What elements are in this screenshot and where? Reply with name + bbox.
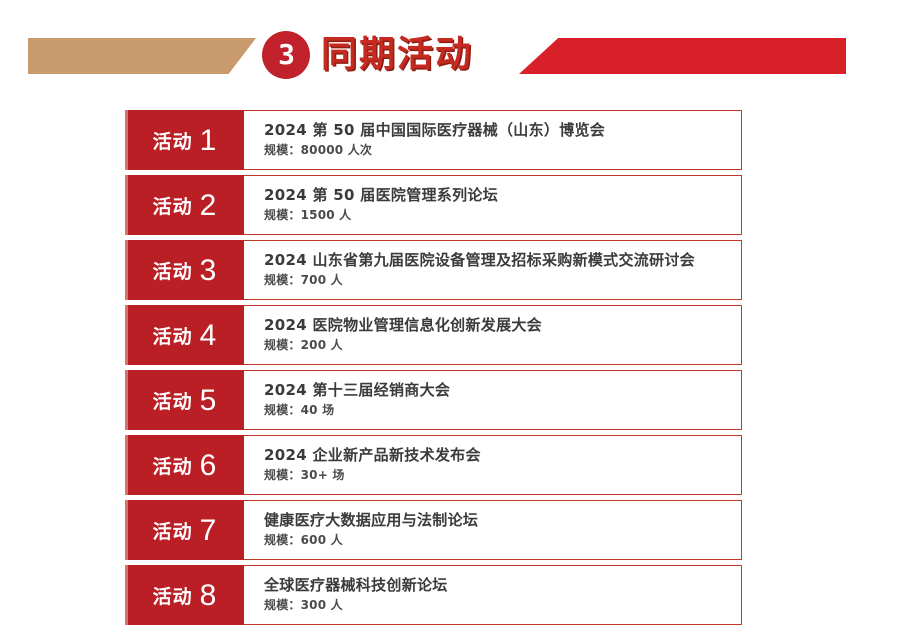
activity-scale: 规模：200 人 <box>264 337 741 354</box>
activity-badge-word: 活动 <box>153 257 193 284</box>
page-title: 同期活动 <box>321 31 473 79</box>
section-header: 3 同期活动 <box>0 0 914 96</box>
section-number-badge: 3 <box>262 31 310 79</box>
activity-row-badge: 活动4 <box>125 305 244 365</box>
activity-row-content: 2024 医院物业管理信息化创新发展大会规模：200 人 <box>244 305 742 365</box>
activity-row[interactable]: 活动12024 第 50 届中国国际医疗器械（山东）博览会规模：80000 人次 <box>125 110 742 170</box>
activity-row[interactable]: 活动32024 山东省第九届医院设备管理及招标采购新模式交流研讨会规模：700 … <box>125 240 742 300</box>
activity-badge-word: 活动 <box>153 517 193 544</box>
activity-row[interactable]: 活动42024 医院物业管理信息化创新发展大会规模：200 人 <box>125 305 742 365</box>
activity-title: 2024 医院物业管理信息化创新发展大会 <box>264 316 741 335</box>
activity-row[interactable]: 活动22024 第 50 届医院管理系列论坛规模：1500 人 <box>125 175 742 235</box>
activity-scale: 规模：40 场 <box>264 402 741 419</box>
activity-title: 2024 第 50 届医院管理系列论坛 <box>264 186 741 205</box>
activity-row-content: 2024 第 50 届中国国际医疗器械（山东）博览会规模：80000 人次 <box>244 110 742 170</box>
activity-row-content: 2024 第十三届经销商大会规模：40 场 <box>244 370 742 430</box>
activity-title: 2024 第十三届经销商大会 <box>264 381 741 400</box>
activity-badge-number: 5 <box>200 386 217 416</box>
activity-scale: 规模：700 人 <box>264 272 741 289</box>
activity-title: 2024 山东省第九届医院设备管理及招标采购新模式交流研讨会 <box>264 251 741 270</box>
activity-badge-word: 活动 <box>153 127 193 154</box>
activity-row-badge: 活动8 <box>125 565 244 625</box>
activity-badge-number: 6 <box>200 451 217 481</box>
header-banner-right-decoration <box>519 38 846 74</box>
activity-row-content: 2024 企业新产品新技术发布会规模：30+ 场 <box>244 435 742 495</box>
activity-badge-number: 7 <box>200 516 217 546</box>
activity-title: 健康医疗大数据应用与法制论坛 <box>264 511 741 530</box>
activity-list: 活动12024 第 50 届中国国际医疗器械（山东）博览会规模：80000 人次… <box>125 110 742 630</box>
activity-badge-number: 1 <box>200 126 217 156</box>
activity-row-badge: 活动1 <box>125 110 244 170</box>
activity-badge-word: 活动 <box>153 387 193 414</box>
activity-scale: 规模：300 人 <box>264 597 741 614</box>
activity-row-badge: 活动6 <box>125 435 244 495</box>
activity-row-badge: 活动7 <box>125 500 244 560</box>
activity-row[interactable]: 活动62024 企业新产品新技术发布会规模：30+ 场 <box>125 435 742 495</box>
activity-row-content: 2024 山东省第九届医院设备管理及招标采购新模式交流研讨会规模：700 人 <box>244 240 742 300</box>
activity-badge-number: 4 <box>200 321 217 351</box>
activity-row[interactable]: 活动52024 第十三届经销商大会规模：40 场 <box>125 370 742 430</box>
activity-scale: 规模：600 人 <box>264 532 741 549</box>
activity-row-badge: 活动5 <box>125 370 244 430</box>
activity-badge-word: 活动 <box>153 582 193 609</box>
activity-scale: 规模：80000 人次 <box>264 142 741 159</box>
activity-row-content: 全球医疗器械科技创新论坛规模：300 人 <box>244 565 742 625</box>
activity-row-content: 健康医疗大数据应用与法制论坛规模：600 人 <box>244 500 742 560</box>
activity-title: 全球医疗器械科技创新论坛 <box>264 576 741 595</box>
activity-title: 2024 第 50 届中国国际医疗器械（山东）博览会 <box>264 121 741 140</box>
activity-badge-number: 2 <box>200 191 217 221</box>
activity-badge-word: 活动 <box>153 192 193 219</box>
activity-row-badge: 活动3 <box>125 240 244 300</box>
header-banner-left-decoration <box>28 38 256 74</box>
activity-badge-word: 活动 <box>153 322 193 349</box>
activity-row-badge: 活动2 <box>125 175 244 235</box>
activity-badge-number: 8 <box>200 581 217 611</box>
activity-scale: 规模：30+ 场 <box>264 467 741 484</box>
activity-row-content: 2024 第 50 届医院管理系列论坛规模：1500 人 <box>244 175 742 235</box>
activity-title: 2024 企业新产品新技术发布会 <box>264 446 741 465</box>
activity-badge-word: 活动 <box>153 452 193 479</box>
activity-scale: 规模：1500 人 <box>264 207 741 224</box>
activity-row[interactable]: 活动8全球医疗器械科技创新论坛规模：300 人 <box>125 565 742 625</box>
activity-badge-number: 3 <box>200 256 217 286</box>
activity-row[interactable]: 活动7健康医疗大数据应用与法制论坛规模：600 人 <box>125 500 742 560</box>
